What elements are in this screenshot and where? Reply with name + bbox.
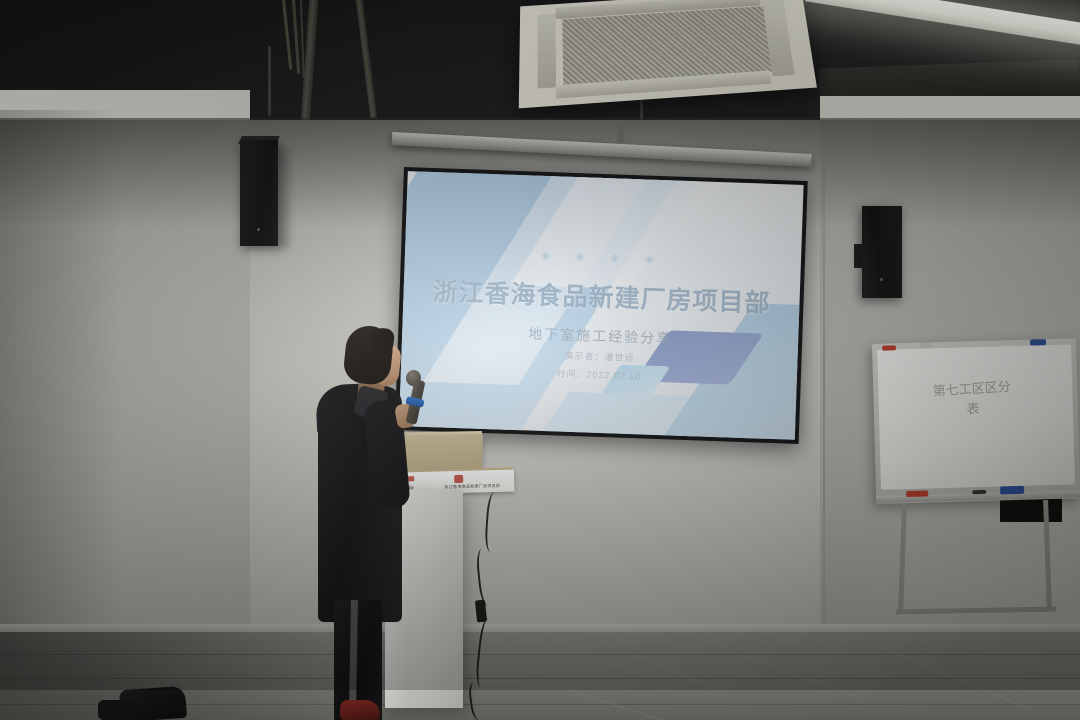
black-bag-secondary [98, 700, 138, 720]
presenter-shoe [340, 700, 380, 720]
conference-room-photo: ◈ ◈ ◈ ◈ 浙江香海食品新建厂房项目部 地下室施工经验分享 演示者：潘世远 … [0, 0, 1080, 720]
ceiling-hanger-left [268, 46, 271, 116]
room-vignette [0, 120, 1080, 690]
ac-vent-left [538, 13, 556, 88]
